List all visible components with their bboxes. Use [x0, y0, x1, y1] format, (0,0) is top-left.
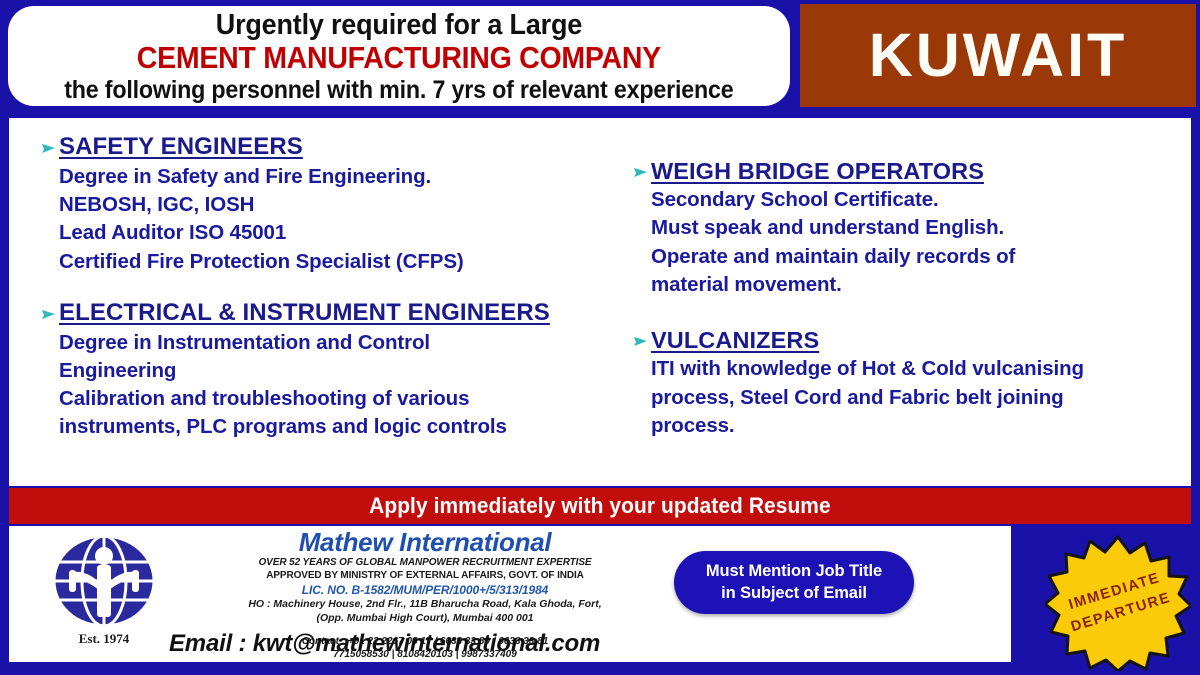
header-title-pill: Urgently required for a Large CEMENT MAN… — [8, 6, 790, 106]
mention-box-line-1: Must Mention Job Title — [706, 561, 882, 583]
established-year-label: Est. 1974 — [29, 631, 179, 647]
job-detail-line: Secondary School Certificate. — [651, 186, 1191, 214]
company-email[interactable]: Email : kwt@mathewinternational.com — [169, 630, 600, 658]
job-detail-line: Must speak and understand English. — [651, 214, 1191, 242]
job-body: VULCANIZERS ITI with knowledge of Hot & … — [651, 325, 1191, 440]
job-detail-line: Degree in Instrumentation and Control — [59, 329, 605, 357]
arrow-bullet-icon — [19, 298, 59, 322]
arrow-bullet-icon — [19, 132, 59, 156]
mention-box-line-2: in Subject of Email — [721, 583, 867, 605]
must-mention-job-title-box: Must Mention Job Title in Subject of Ema… — [674, 551, 914, 614]
job-title: VULCANIZERS — [651, 325, 1191, 355]
globe-figure-logo-icon — [52, 532, 156, 630]
job-body: SAFETY ENGINEERS Degree in Safety and Fi… — [59, 132, 605, 276]
company-approval: APPROVED BY MINISTRY OF EXTERNAL AFFAIRS… — [205, 570, 645, 583]
job-detail-line: Operate and maintain daily records of — [651, 243, 1191, 271]
job-body: WEIGH BRIDGE OPERATORS Secondary School … — [651, 156, 1191, 299]
job-detail-line: material movement. — [651, 271, 1191, 299]
job-detail-line: Degree in Safety and Fire Engineering. — [59, 163, 605, 191]
job-title: ELECTRICAL & INSTRUMENT ENGINEERS — [59, 298, 605, 329]
job-column-left: SAFETY ENGINEERS Degree in Safety and Fi… — [9, 118, 605, 486]
job-detail-line: process, Steel Cord and Fabric belt join… — [651, 384, 1191, 412]
header-line-3: the following personnel with min. 7 yrs … — [64, 77, 733, 103]
job-title: SAFETY ENGINEERS — [59, 132, 605, 163]
company-logo: Est. 1974 — [29, 532, 179, 647]
job-detail-line: process. — [651, 412, 1191, 440]
job-detail-line: Calibration and troubleshooting of vario… — [59, 385, 605, 413]
job-detail-line: instruments, PLC programs and logic cont… — [59, 413, 605, 441]
immediate-departure-badge: IMMEDIATE DEPARTURE — [1045, 535, 1191, 671]
header-company-type: CEMENT MANUFACTURING COMPANY — [137, 41, 661, 74]
arrow-bullet-icon — [611, 156, 651, 180]
job-column-right: WEIGH BRIDGE OPERATORS Secondary School … — [605, 118, 1191, 486]
apply-call-to-action-bar: Apply immediately with your updated Resu… — [9, 488, 1191, 524]
job-entry-vulcanizers: VULCANIZERS ITI with knowledge of Hot & … — [611, 325, 1191, 440]
job-entry-electrical-instrument-engineers: ELECTRICAL & INSTRUMENT ENGINEERS Degree… — [19, 298, 605, 442]
country-banner: KUWAIT — [800, 4, 1196, 107]
country-banner-label: KUWAIT — [869, 25, 1128, 86]
arrow-bullet-icon — [611, 325, 651, 349]
job-detail-line: NEBOSH, IGC, IOSH — [59, 191, 605, 219]
header-band: Urgently required for a Large CEMENT MAN… — [0, 0, 1200, 112]
job-body: ELECTRICAL & INSTRUMENT ENGINEERS Degree… — [59, 298, 605, 442]
job-advertisement-poster: Urgently required for a Large CEMENT MAN… — [0, 0, 1200, 675]
company-tagline: OVER 52 YEARS OF GLOBAL MANPOWER RECRUIT… — [205, 557, 645, 570]
company-name: Mathew International — [205, 528, 645, 557]
job-entry-weigh-bridge-operators: WEIGH BRIDGE OPERATORS Secondary School … — [611, 156, 1191, 299]
company-address-line-1: HO : Machinery House, 2nd Flr., 11B Bhar… — [205, 598, 645, 612]
job-title: WEIGH BRIDGE OPERATORS — [651, 156, 1191, 186]
job-detail-line: Engineering — [59, 357, 605, 385]
footer-panel: Est. 1974 Mathew International OVER 52 Y… — [9, 526, 1011, 662]
job-listings-panel: SAFETY ENGINEERS Degree in Safety and Fi… — [9, 118, 1191, 486]
job-detail-line: Certified Fire Protection Specialist (CF… — [59, 248, 605, 276]
job-detail-line: ITI with knowledge of Hot & Cold vulcani… — [651, 355, 1191, 383]
company-address-line-2: (Opp. Mumbai High Court), Mumbai 400 001 — [205, 612, 645, 626]
header-line-1: Urgently required for a Large — [216, 11, 582, 41]
apply-call-to-action-text: Apply immediately with your updated Resu… — [369, 493, 831, 519]
job-detail-line: Lead Auditor ISO 45001 — [59, 219, 605, 247]
company-license-number: LIC. NO. B-1582/MUM/PER/1000+/5/313/1984 — [205, 583, 645, 599]
job-entry-safety-engineers: SAFETY ENGINEERS Degree in Safety and Fi… — [19, 132, 605, 276]
